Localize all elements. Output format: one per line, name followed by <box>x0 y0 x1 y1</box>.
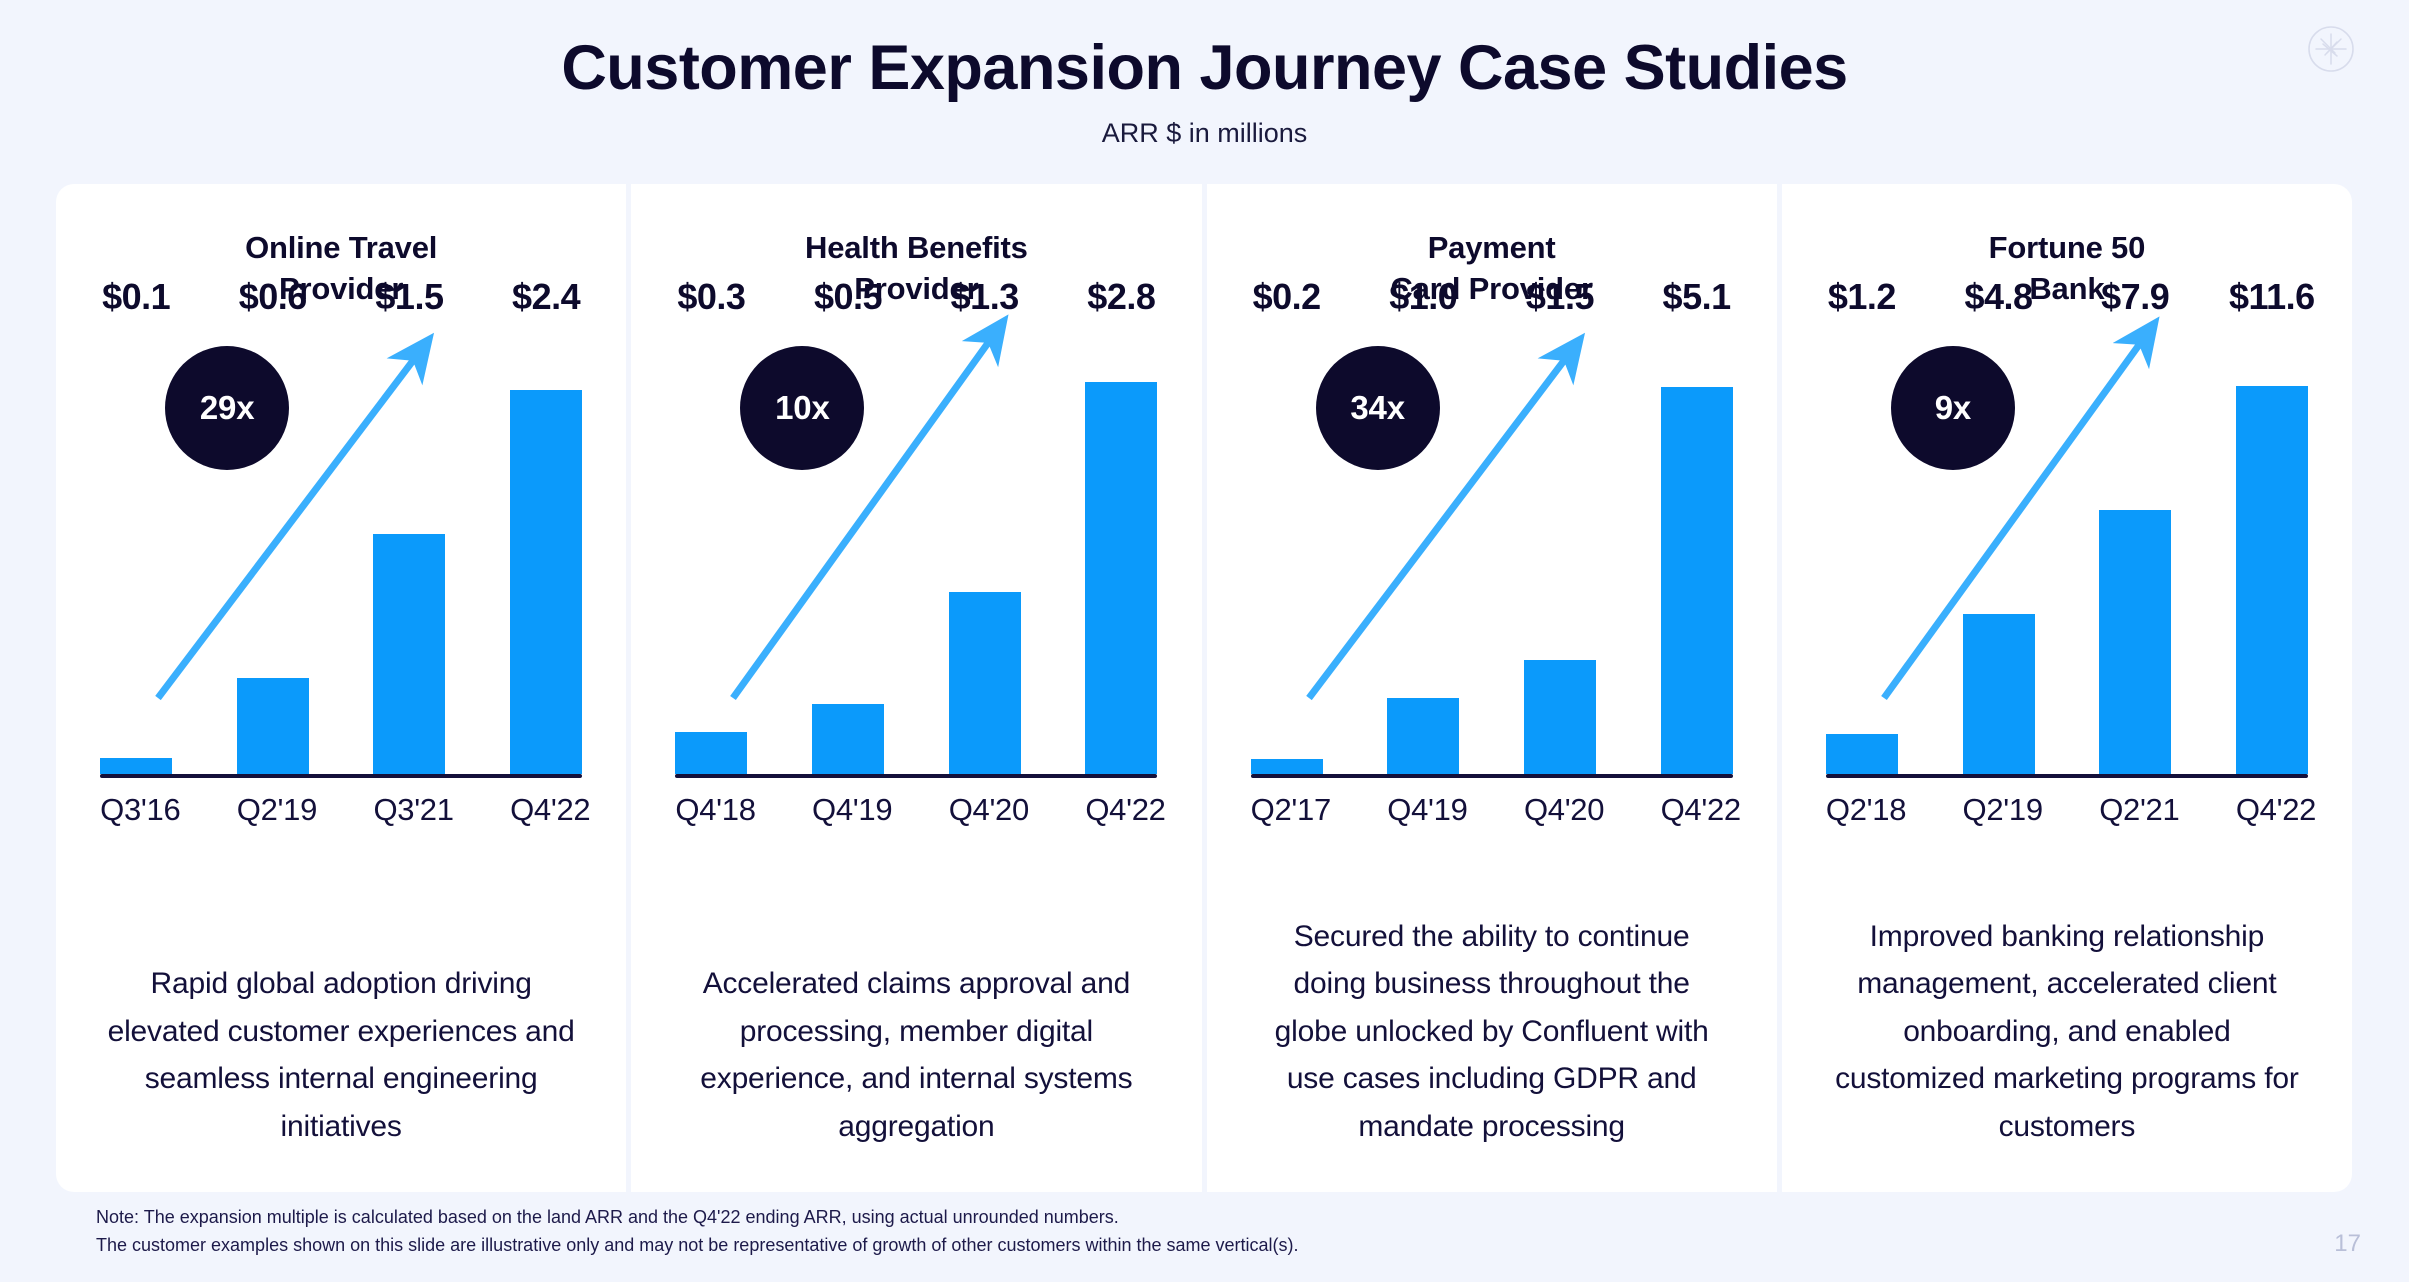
expansion-multiple-badge: 29x <box>165 346 289 470</box>
bar-value-label: $0.2 <box>1253 276 1321 318</box>
bar[interactable] <box>812 704 884 774</box>
card-description: Secured the ability to continue doing bu… <box>1257 913 1727 1150</box>
confluent-logo-icon <box>2307 25 2355 73</box>
x-axis-tick-labels: Q4'18 Q4'19 Q4'20 Q4'22 <box>675 792 1157 828</box>
case-study-card-fortune-50-bank[interactable]: Fortune 50Bank 9x $1.2 <box>1782 184 2352 1192</box>
case-study-cards: Online TravelProvider 29x $0.1 <box>56 184 2352 1192</box>
bar-chart-payment-card-provider: 34x $0.2 <box>1229 326 1755 856</box>
bar-value-label: $1.5 <box>1526 276 1594 318</box>
bar-value-label: $0.1 <box>102 276 170 318</box>
bar-column[interactable]: $1.3 <box>949 326 1021 774</box>
x-axis-line <box>675 774 1157 778</box>
bar[interactable] <box>1524 660 1596 774</box>
bar-column[interactable]: $11.6 <box>2236 326 2308 774</box>
bar[interactable] <box>237 678 309 774</box>
bar[interactable] <box>510 390 582 774</box>
x-tick: Q4'22 <box>510 792 582 828</box>
footnote: Note: The expansion multiple is calculat… <box>96 1204 1299 1260</box>
slide-header: Customer Expansion Journey Case Studies … <box>0 0 2409 149</box>
footnote-line-2: The customer examples shown on this slid… <box>96 1232 1299 1260</box>
x-tick: Q3'21 <box>373 792 445 828</box>
bar-value-label: $2.8 <box>1087 276 1155 318</box>
bar-value-label: $1.5 <box>375 276 443 318</box>
bar[interactable] <box>2099 510 2171 774</box>
bar-column[interactable]: $0.2 <box>1251 326 1323 774</box>
x-tick: Q2'19 <box>237 792 309 828</box>
x-tick: Q4'22 <box>2236 792 2308 828</box>
x-axis-tick-labels: Q2'17 Q4'19 Q4'20 Q4'22 <box>1251 792 1733 828</box>
bar-column[interactable]: $0.1 <box>100 326 172 774</box>
bar[interactable] <box>100 758 172 774</box>
x-tick: Q3'16 <box>100 792 172 828</box>
x-axis-tick-labels: Q2'18 Q2'19 Q2'21 Q4'22 <box>1826 792 2308 828</box>
bar-column[interactable]: $2.4 <box>510 326 582 774</box>
slide-root: Customer Expansion Journey Case Studies … <box>0 0 2409 1282</box>
bar-chart-fortune-50-bank: 9x $1.2 <box>1804 326 2330 856</box>
bar-value-label: $11.6 <box>2229 276 2315 318</box>
x-tick: Q2'17 <box>1251 792 1323 828</box>
bar-value-label: $0.3 <box>677 276 745 318</box>
page-title: Customer Expansion Journey Case Studies <box>0 32 2409 104</box>
bar-value-label: $1.3 <box>951 276 1019 318</box>
case-study-card-health-benefits-provider[interactable]: Health BenefitsProvider 10x $0.3 <box>631 184 1201 1192</box>
bar-column[interactable]: $7.9 <box>2099 326 2171 774</box>
bar-chart-online-travel-provider: 29x $0.1 <box>78 326 604 856</box>
x-axis-tick-labels: Q3'16 Q2'19 Q3'21 Q4'22 <box>100 792 582 828</box>
bar-value-label: $0.6 <box>239 276 307 318</box>
page-subtitle: ARR $ in millions <box>0 118 2409 149</box>
x-tick: Q4'20 <box>1524 792 1596 828</box>
x-tick: Q2'19 <box>1963 792 2035 828</box>
bar-column[interactable]: $0.3 <box>675 326 747 774</box>
bar-column[interactable]: $1.2 <box>1826 326 1898 774</box>
bar-column[interactable]: $5.1 <box>1661 326 1733 774</box>
card-description: Accelerated claims approval and processi… <box>681 960 1151 1150</box>
bar-column[interactable]: $1.5 <box>373 326 445 774</box>
x-axis-line <box>100 774 582 778</box>
bar-value-label: $1.2 <box>1828 276 1896 318</box>
x-axis-line <box>1251 774 1733 778</box>
x-tick: Q4'22 <box>1085 792 1157 828</box>
bar-value-label: $0.5 <box>814 276 882 318</box>
case-study-card-online-travel-provider[interactable]: Online TravelProvider 29x $0.1 <box>56 184 626 1192</box>
card-description: Improved banking relationship management… <box>1832 913 2302 1150</box>
bar-value-label: $4.8 <box>1964 276 2032 318</box>
bar[interactable] <box>2236 386 2308 774</box>
page-number: 17 <box>2334 1230 2361 1258</box>
x-tick: Q4'18 <box>675 792 747 828</box>
x-tick: Q4'19 <box>1387 792 1459 828</box>
bar-value-label: $5.1 <box>1663 276 1731 318</box>
x-axis-line <box>1826 774 2308 778</box>
x-tick: Q4'19 <box>812 792 884 828</box>
x-tick: Q2'21 <box>2099 792 2171 828</box>
expansion-multiple-badge: 34x <box>1316 346 1440 470</box>
bar-chart-health-benefits-provider: 10x $0.3 <box>653 326 1179 856</box>
bar[interactable] <box>1661 387 1733 774</box>
bar[interactable] <box>949 592 1021 774</box>
bar[interactable] <box>373 534 445 774</box>
bar[interactable] <box>675 732 747 774</box>
expansion-multiple-badge: 9x <box>1891 346 2015 470</box>
x-tick: Q4'22 <box>1661 792 1733 828</box>
case-study-card-payment-card-provider[interactable]: PaymentCard Provider 34x $0.2 <box>1207 184 1777 1192</box>
bar[interactable] <box>1251 759 1323 774</box>
bar[interactable] <box>1826 734 1898 774</box>
bar[interactable] <box>1387 698 1459 774</box>
bar-value-label: $2.4 <box>512 276 580 318</box>
expansion-multiple-badge: 10x <box>740 346 864 470</box>
bar[interactable] <box>1963 614 2035 774</box>
x-tick: Q4'20 <box>949 792 1021 828</box>
card-description: Rapid global adoption driving elevated c… <box>106 960 576 1150</box>
bar-value-label: $7.9 <box>2101 276 2169 318</box>
footnote-line-1: Note: The expansion multiple is calculat… <box>96 1204 1299 1232</box>
bar-column[interactable]: $1.5 <box>1524 326 1596 774</box>
bar[interactable] <box>1085 382 1157 774</box>
bar-value-label: $1.0 <box>1389 276 1457 318</box>
x-tick: Q2'18 <box>1826 792 1898 828</box>
bar-column[interactable]: $2.8 <box>1085 326 1157 774</box>
